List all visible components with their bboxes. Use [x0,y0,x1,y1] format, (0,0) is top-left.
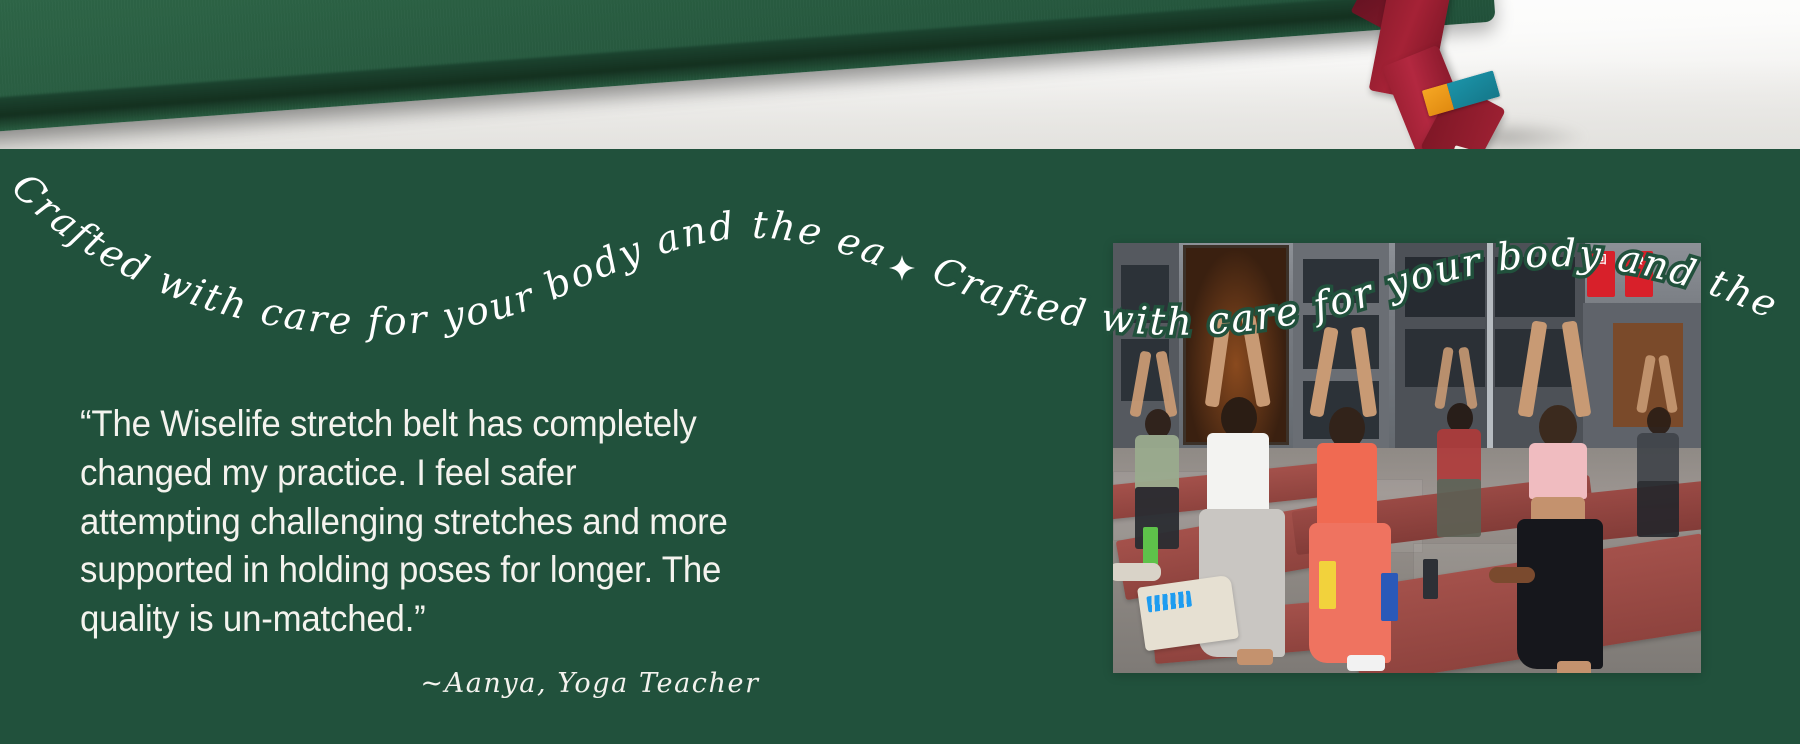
water-bottle-blue [1381,573,1398,621]
quote-text: “The Wiselife stretch belt has completel… [80,400,738,644]
torso [1207,433,1269,513]
head [1647,407,1671,435]
banner-textpath-1: Crafted with care for your body and the … [0,114,894,344]
legs [1637,481,1679,537]
testimonial-section: 回 Q [0,0,1800,744]
water-bottle-yellow [1319,561,1336,609]
tote-bag-logo [1146,591,1192,613]
curved-script-banner: Crafted with care for your body and the … [0,149,1800,389]
legs [1437,479,1481,537]
torso-top [1529,443,1587,499]
foot [1237,649,1273,665]
tote-bag [1137,575,1239,651]
hero-product-image [0,0,1800,149]
torso [1437,429,1481,483]
torso [1135,435,1179,491]
sparkle-icon [889,255,915,281]
legs [1517,519,1603,669]
sandals [1113,563,1161,581]
testimonial-attribution: ~Aanya, Yoga Teacher [0,668,1180,699]
attribution-text: ~Aanya, Yoga Teacher [420,668,759,699]
torso [1637,433,1679,485]
sandals-2 [1489,567,1535,583]
water-bottle-dark [1423,559,1438,599]
testimonial-quote-block: “The Wiselife stretch belt has completel… [80,400,780,644]
foot [1557,661,1591,673]
torso [1317,443,1377,529]
shoe [1347,655,1385,671]
banner-text-1: Crafted with care for your body and the … [0,114,894,344]
